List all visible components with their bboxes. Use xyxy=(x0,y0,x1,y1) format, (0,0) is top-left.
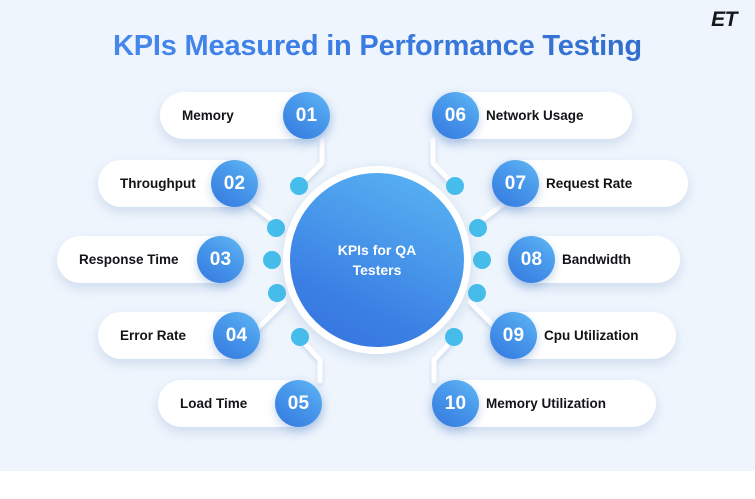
kpi-label-07: Request Rate xyxy=(546,176,632,191)
kpi-number-02[interactable]: 02 xyxy=(211,160,258,207)
hub-dot-05 xyxy=(291,328,309,346)
kpi-item-05[interactable]: Load Time 05 xyxy=(158,380,322,427)
hub-dot-10 xyxy=(445,328,463,346)
kpi-label-05: Load Time xyxy=(180,396,247,411)
kpi-item-08[interactable]: Bandwidth 08 xyxy=(508,236,680,283)
kpi-number-09[interactable]: 09 xyxy=(490,312,537,359)
kpi-label-09: Cpu Utilization xyxy=(544,328,639,343)
kpi-item-02[interactable]: Throughput 02 xyxy=(98,160,258,207)
kpi-label-10: Memory Utilization xyxy=(486,396,606,411)
connector-04 xyxy=(256,302,284,330)
hub-dot-09 xyxy=(468,284,486,302)
kpi-label-04: Error Rate xyxy=(120,328,186,343)
kpi-number-07[interactable]: 07 xyxy=(492,160,539,207)
hub-label-line1: KPIs for QA xyxy=(338,242,417,258)
hub-dot-07 xyxy=(469,219,487,237)
hub-dot-03 xyxy=(263,251,281,269)
kpi-item-01[interactable]: Memory 01 xyxy=(160,92,330,139)
hub-dot-06 xyxy=(446,177,464,195)
kpi-number-06[interactable]: 06 xyxy=(432,92,479,139)
kpi-number-08[interactable]: 08 xyxy=(508,236,555,283)
kpi-item-09[interactable]: Cpu Utilization 09 xyxy=(490,312,676,359)
kpi-number-10[interactable]: 10 xyxy=(432,380,479,427)
kpi-number-04[interactable]: 04 xyxy=(213,312,260,359)
kpi-label-06: Network Usage xyxy=(486,108,584,123)
hub-label: KPIs for QA Testers xyxy=(317,240,437,281)
kpi-number-05[interactable]: 05 xyxy=(275,380,322,427)
kpi-label-03: Response Time xyxy=(79,252,179,267)
kpi-number-01[interactable]: 01 xyxy=(283,92,330,139)
kpi-item-03[interactable]: Response Time 03 xyxy=(57,236,244,283)
bottom-white-strip xyxy=(0,471,755,499)
kpi-item-07[interactable]: Request Rate 07 xyxy=(492,160,688,207)
kpi-number-03[interactable]: 03 xyxy=(197,236,244,283)
hub-dot-01 xyxy=(290,177,308,195)
infographic-canvas: ET KPIs Measured in Performance Testing xyxy=(0,0,755,471)
hub-dot-02 xyxy=(267,219,285,237)
kpi-label-08: Bandwidth xyxy=(562,252,631,267)
kpi-item-04[interactable]: Error Rate 04 xyxy=(98,312,260,359)
kpi-item-06[interactable]: Network Usage 06 xyxy=(432,92,632,139)
kpi-item-10[interactable]: Memory Utilization 10 xyxy=(432,380,656,427)
hub-label-line2: Testers xyxy=(353,262,402,278)
hub-center: KPIs for QA Testers xyxy=(290,173,464,347)
hub-dot-04 xyxy=(268,284,286,302)
kpi-label-01: Memory xyxy=(182,108,234,123)
kpi-label-02: Throughput xyxy=(120,176,196,191)
hub-dot-08 xyxy=(473,251,491,269)
